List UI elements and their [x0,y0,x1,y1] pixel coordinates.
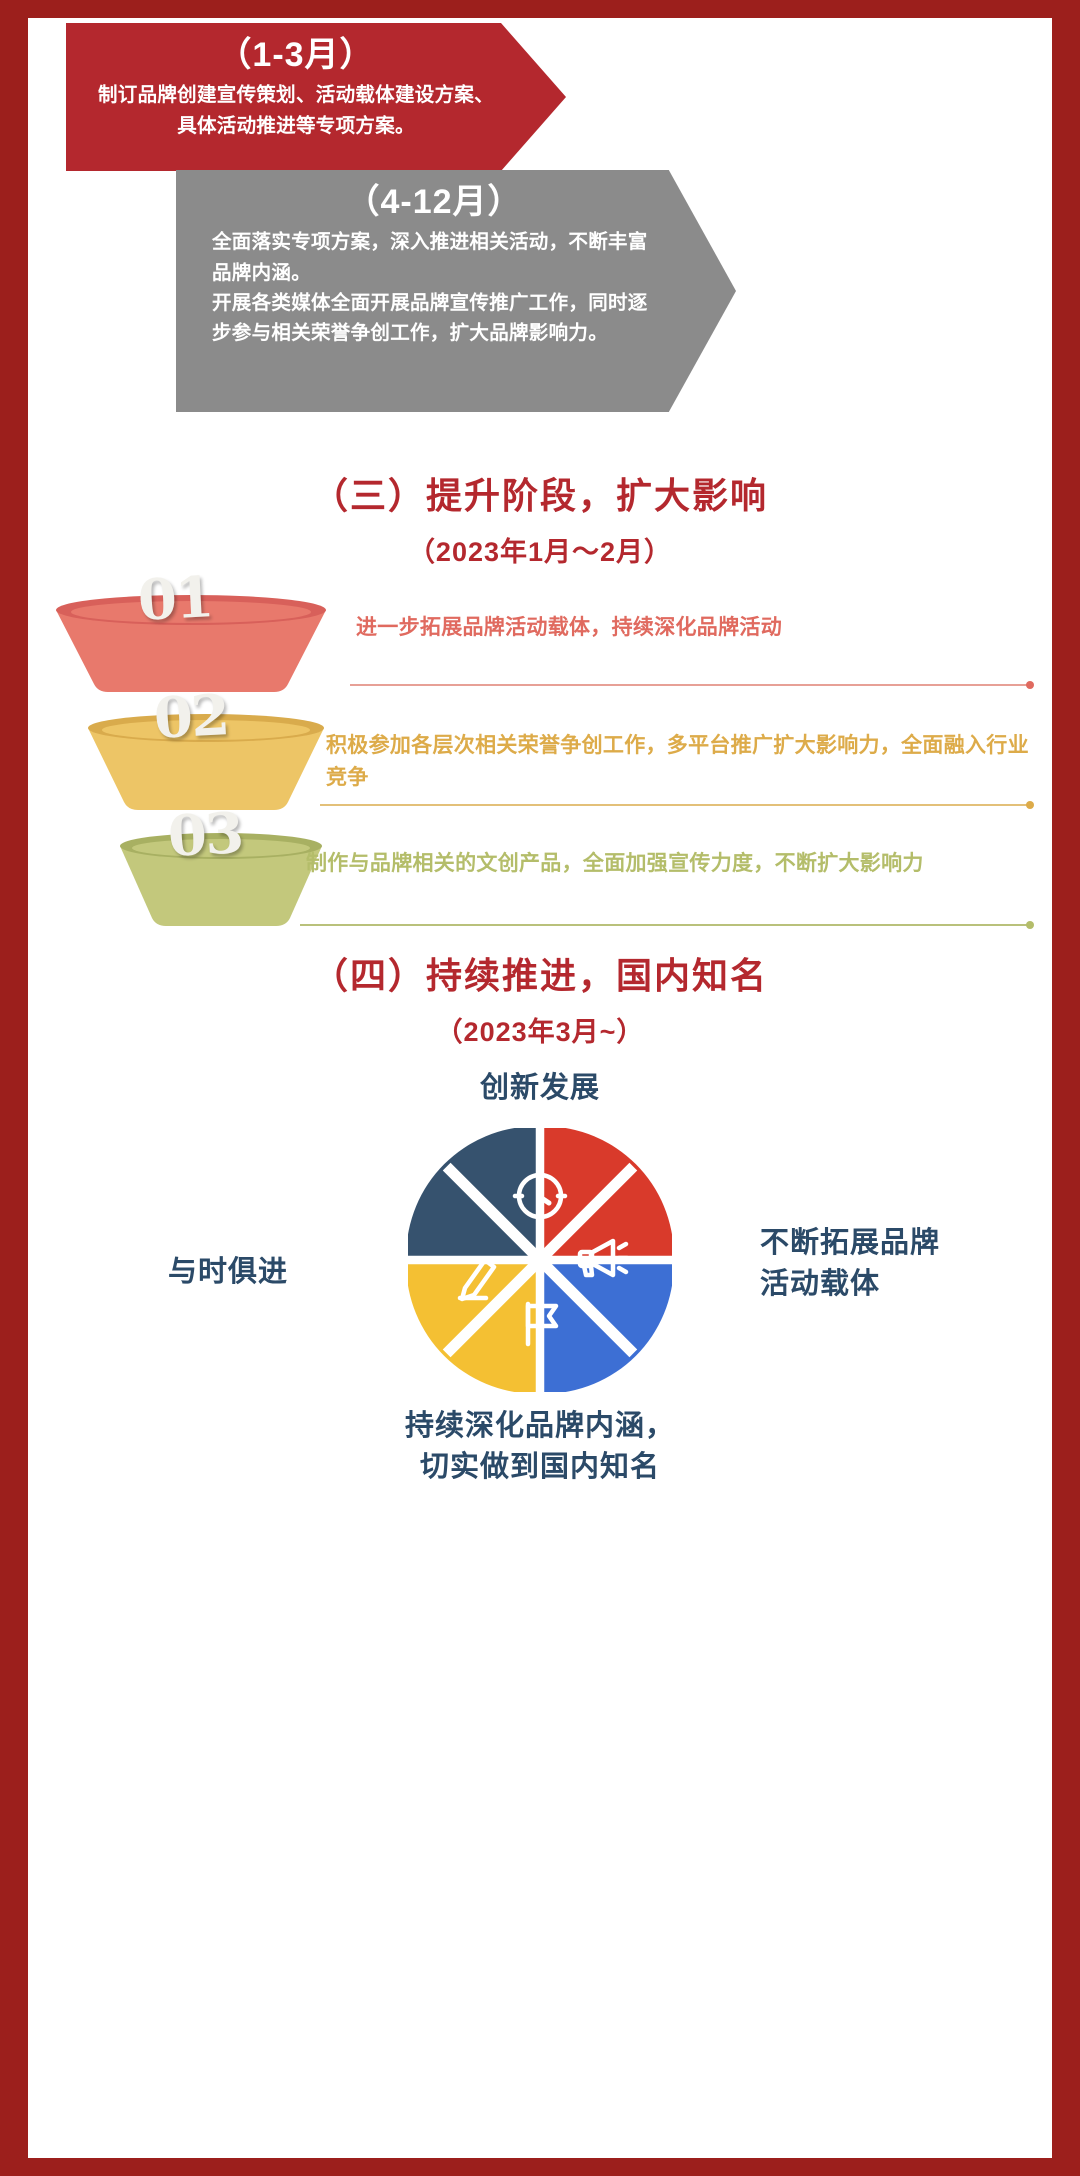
section-four-subtitle: （2023年3月~） [28,1010,1052,1049]
funnel-rule-01 [350,684,1030,686]
section-three-heading: （三）提升阶段，扩大影响 （2023年1月～2月） [28,473,1052,569]
funnel-rule-03 [300,924,1030,926]
funnel-text-02: 积极参加各层次相关荣誉争创工作，多平台推广扩大影响力，全面融入行业竞争 [326,730,1038,793]
wheel-label-top: 创新发展 [28,1068,1052,1109]
section-three-title: （三）提升阶段，扩大影响 [28,473,1052,518]
funnel-bowl-01: 01 [46,588,336,696]
banner-phase-4-12: （4-12月） 全面落实专项方案，深入推进相关活动，不断丰富品牌内涵。开展各类媒… [176,170,736,412]
funnel-item-01: 01 进一步拓展品牌活动载体，持续深化品牌活动 [28,588,1052,698]
funnel-rule-02 [320,804,1030,806]
funnel-dot-01 [1026,681,1034,689]
funnel-dot-02 [1026,801,1034,809]
funnel-bowl-03: 03 [106,824,336,932]
banner-phase-4-12-body: 全面落实专项方案，深入推进相关活动，不断丰富品牌内涵。开展各类媒体全面开展品牌宣… [212,221,662,348]
wheel-diagram [408,1128,672,1392]
funnel-number-01: 01 [136,564,213,634]
section-three-subtitle: （2023年1月～2月） [28,530,1052,569]
banner-phase-1-3-title: （1-3月） [96,37,496,74]
funnel-text-01: 进一步拓展品牌活动载体，持续深化品牌活动 [356,612,1038,644]
banner-phase-1-3: （1-3月） 制订品牌创建宣传策划、活动载体建设方案、具体活动推进等专项方案。 [66,23,566,171]
funnel-list: 01 进一步拓展品牌活动载体，持续深化品牌活动 02 积极参加各层次相关荣誉争创… [28,588,1052,942]
wheel-center-gap [408,1128,672,1392]
banner-phase-1-3-body: 制订品牌创建宣传策划、活动载体建设方案、具体活动推进等专项方案。 [96,74,496,140]
funnel-text-03: 制作与品牌相关的文创产品，全面加强宣传力度，不断扩大影响力 [306,848,1038,880]
funnel-bowl-02: 02 [76,706,336,814]
page-red-border: （1-3月） 制订品牌创建宣传策划、活动载体建设方案、具体活动推进等专项方案。 … [0,0,1080,2176]
wheel-label-bottom: 持续深化品牌内涵，切实做到国内知名 [28,1406,1052,1487]
funnel-dot-03 [1026,921,1034,929]
funnel-item-03: 03 制作与品牌相关的文创产品，全面加强宣传力度，不断扩大影响力 [28,824,1052,934]
brand-wheel: 创新发展 与时俱进 不断拓展品牌活动载体 持续深化品牌内涵，切实做到国内知名 [28,1068,1052,1518]
timeline-banners: （1-3月） 制订品牌创建宣传策划、活动载体建设方案、具体活动推进等专项方案。 … [28,18,1052,423]
banner-phase-4-12-title: （4-12月） [212,184,662,221]
section-four-heading: （四）持续推进，国内知名 （2023年3月~） [28,953,1052,1049]
section-four-title: （四）持续推进，国内知名 [28,953,1052,998]
wheel-label-left: 与时俱进 [58,1252,288,1293]
wheel-label-right: 不断拓展品牌活动载体 [760,1223,1030,1304]
funnel-item-02: 02 积极参加各层次相关荣誉争创工作，多平台推广扩大影响力，全面融入行业竞争 [28,706,1052,816]
funnel-number-02: 02 [152,682,229,752]
page-content-area: （1-3月） 制订品牌创建宣传策划、活动载体建设方案、具体活动推进等专项方案。 … [28,18,1052,2158]
funnel-number-03: 03 [166,800,243,870]
